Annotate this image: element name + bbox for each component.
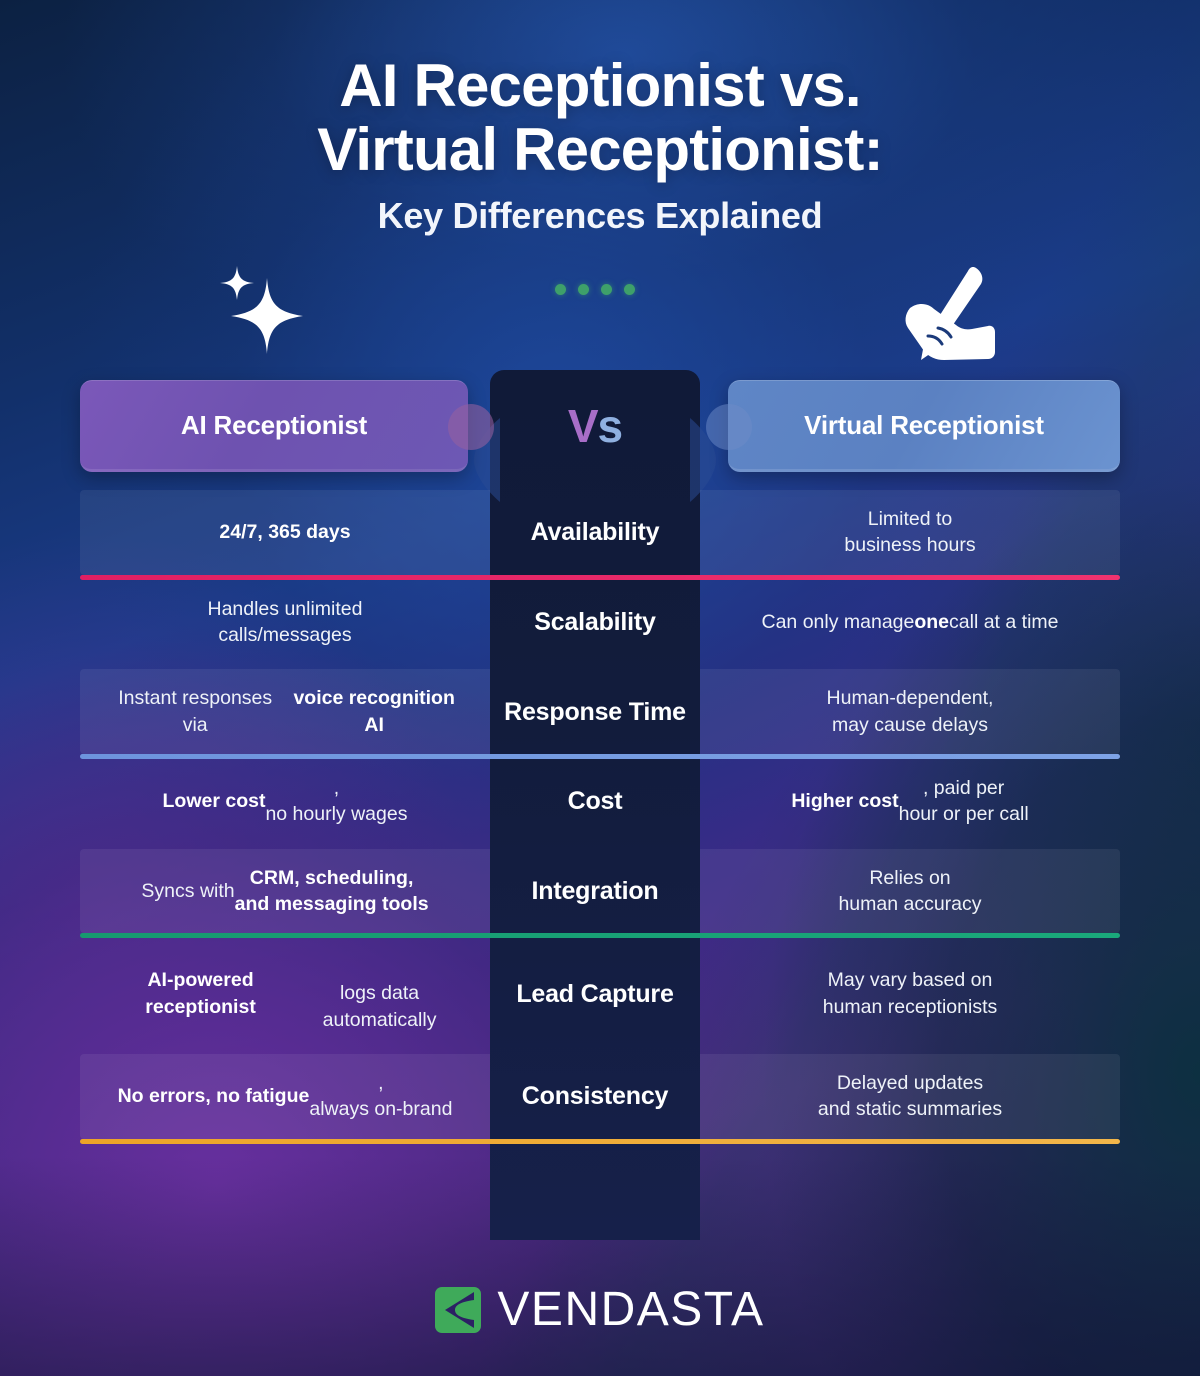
row-1-virtual-value: Can only manageone call at a time <box>700 580 1120 665</box>
row-0-ai-value: 24/7, 365 days <box>80 490 490 575</box>
row-2-ai-value: Instant responses viavoice recognition A… <box>80 669 490 754</box>
decoration-row <box>0 252 1200 372</box>
page-subtitle: Key Differences Explained <box>0 195 1200 237</box>
dot-2 <box>578 284 589 295</box>
row-5-ai-value: AI-powered receptionistlogs data automat… <box>80 938 490 1049</box>
connector-knob-right <box>706 404 752 450</box>
vs-label: Vs <box>490 380 700 472</box>
row-1-ai-value: Handles unlimitedcalls/messages <box>80 580 490 665</box>
comparison-table: AI Receptionist Vs Virtual Receptionist … <box>80 380 1120 1144</box>
row-3-ai-value: Lower cost,no hourly wages <box>80 759 490 844</box>
row-5-virtual-value: May vary based onhuman receptionists <box>700 938 1120 1049</box>
header-pill-ai-receptionist[interactable]: AI Receptionist <box>80 380 468 472</box>
vs-letter-s: s <box>598 399 623 453</box>
page-title: AI Receptionist vs. Virtual Receptionist… <box>0 0 1200 181</box>
dot-3 <box>601 284 612 295</box>
vendasta-wordmark: VENDASTA <box>497 1282 764 1337</box>
connector-knob-left <box>448 404 494 450</box>
row-4-attribute: Integration <box>490 849 700 934</box>
title-line-2: Virtual Receptionist: <box>0 118 1200 182</box>
title-line-1: AI Receptionist vs. <box>0 54 1200 118</box>
header: AI Receptionist vs. Virtual Receptionist… <box>0 0 1200 237</box>
row-6-ai-value: No errors, no fatigue,always on-brand <box>80 1054 490 1139</box>
row-6-divider <box>80 1139 1120 1144</box>
table-row: No errors, no fatigue,always on-brandCon… <box>80 1054 1120 1139</box>
dot-1 <box>555 284 566 295</box>
table-row: Instant responses viavoice recognition A… <box>80 669 1120 754</box>
hand-writing-pen-icon <box>888 262 998 362</box>
table-row: 24/7, 365 daysAvailabilityLimited tobusi… <box>80 490 1120 575</box>
row-4-ai-value: Syncs with CRM, scheduling,and messaging… <box>80 849 490 934</box>
table-row: AI-powered receptionistlogs data automat… <box>80 938 1120 1049</box>
table-row: Handles unlimitedcalls/messagesScalabili… <box>80 580 1120 665</box>
row-0-virtual-value: Limited tobusiness hours <box>700 490 1120 575</box>
dot-separator <box>555 284 635 295</box>
table-row: Lower cost,no hourly wagesCostHigher cos… <box>80 759 1120 844</box>
row-4-virtual-value: Relies onhuman accuracy <box>700 849 1120 934</box>
dot-4 <box>624 284 635 295</box>
row-6-attribute: Consistency <box>490 1054 700 1139</box>
row-3-attribute: Cost <box>490 759 700 844</box>
header-pill-virtual-receptionist[interactable]: Virtual Receptionist <box>728 380 1120 472</box>
row-2-virtual-value: Human-dependent,may cause delays <box>700 669 1120 754</box>
comparison-rows: 24/7, 365 daysAvailabilityLimited tobusi… <box>80 490 1120 1144</box>
footer-branding: VENDASTA <box>0 1282 1200 1337</box>
vs-letter-v: V <box>568 399 598 453</box>
header-pill-virtual-label: Virtual Receptionist <box>804 410 1044 441</box>
row-6-virtual-value: Delayed updatesand static summaries <box>700 1054 1120 1139</box>
sparkle-icon <box>205 254 315 364</box>
row-2-attribute: Response Time <box>490 669 700 754</box>
infographic-canvas: AI Receptionist vs. Virtual Receptionist… <box>0 0 1200 1376</box>
header-pill-ai-label: AI Receptionist <box>181 410 367 441</box>
comparison-header-row: AI Receptionist Vs Virtual Receptionist <box>80 380 1120 476</box>
vendasta-logo-icon <box>435 1287 481 1333</box>
row-3-virtual-value: Higher cost, paid perhour or per call <box>700 759 1120 844</box>
table-row: Syncs with CRM, scheduling,and messaging… <box>80 849 1120 934</box>
row-0-attribute: Availability <box>490 490 700 575</box>
row-1-attribute: Scalability <box>490 580 700 665</box>
row-5-attribute: Lead Capture <box>490 938 700 1049</box>
